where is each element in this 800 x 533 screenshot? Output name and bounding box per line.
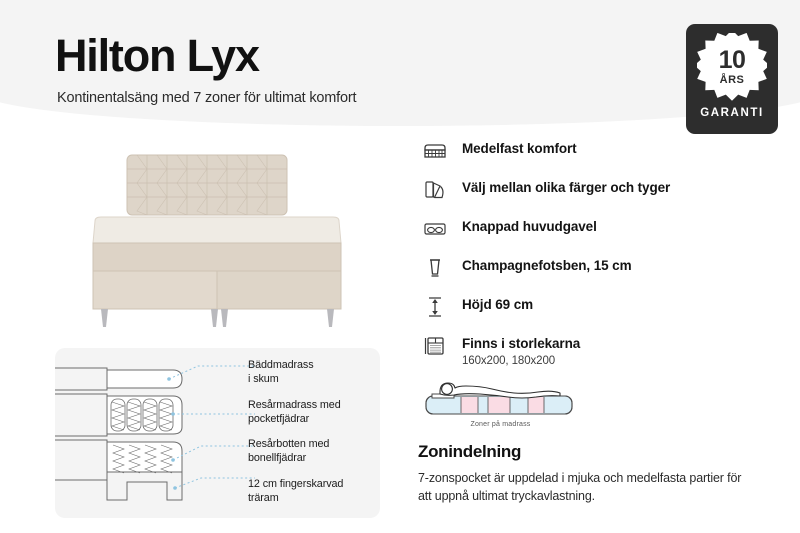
feature-text: Champagnefotsben, 15 cm	[462, 255, 632, 274]
feature-text: Knappad huvudgavel	[462, 216, 597, 235]
layer-cutaway-diagram	[55, 348, 255, 518]
page-title: Hilton Lyx	[55, 33, 259, 78]
height-arrow-icon	[420, 294, 450, 320]
layer-construction-panel: Bäddmadrass i skum Resårmadrass med pock…	[55, 348, 380, 518]
fabric-swatch-icon	[420, 177, 450, 203]
feature-row: Knappad huvudgavel	[420, 216, 760, 242]
layer-label: Bäddmadrass i skum	[248, 358, 380, 387]
badge-years-label: ÅRS	[697, 75, 767, 86]
badge-guarantee-label: GARANTI	[700, 107, 764, 119]
feature-label: Välj mellan olika färger och tyger	[462, 180, 670, 196]
feature-row: Höjd 69 cm	[420, 294, 760, 320]
bed-leg-icon	[420, 255, 450, 281]
badge-number: 10	[697, 48, 767, 73]
feature-sizes: 160x200, 180x200	[462, 355, 580, 367]
feature-row: Finns i storlekarna 160x200, 180x200	[420, 333, 760, 367]
feature-label: Höjd 69 cm	[462, 297, 533, 313]
feature-text: Höjd 69 cm	[462, 294, 533, 313]
feature-text: Välj mellan olika färger och tyger	[462, 177, 670, 196]
feature-row: Medelfast komfort	[420, 138, 760, 164]
feature-text: Medelfast komfort	[462, 138, 577, 157]
zone-section: Zoner på madrass Zonindelning 7-zonspock…	[418, 372, 758, 505]
bed-size-icon	[420, 333, 450, 359]
feature-row: Välj mellan olika färger och tyger	[420, 177, 760, 203]
mattress-icon	[420, 138, 450, 164]
feature-text: Finns i storlekarna 160x200, 180x200	[462, 333, 580, 367]
bed-product-photo	[75, 143, 365, 338]
layer-label: Resårbotten med bonellfjädrar	[248, 437, 380, 466]
zone-description: 7-zonspocket är uppdelad i mjuka och med…	[418, 469, 748, 505]
page-subtitle: Kontinentalsäng med 7 zoner för ultimat …	[57, 90, 356, 106]
feature-list: Medelfast komfort Välj mellan olika färg…	[420, 138, 760, 380]
layer-label: 12 cm fingerskarvad träram	[248, 477, 380, 506]
feature-label: Finns i storlekarna	[462, 336, 580, 352]
starburst-icon: 10 ÅRS	[697, 33, 767, 103]
tufted-headboard-icon	[420, 216, 450, 242]
layer-label: Resårmadrass med pocketfjädrar	[248, 398, 380, 427]
feature-label: Knappad huvudgavel	[462, 219, 597, 235]
feature-label: Champagnefotsben, 15 cm	[462, 258, 632, 274]
layer-label-list: Bäddmadrass i skum Resårmadrass med pock…	[248, 358, 380, 516]
feature-label: Medelfast komfort	[462, 141, 577, 157]
feature-row: Champagnefotsben, 15 cm	[420, 255, 760, 281]
warranty-badge: 10 ÅRS GARANTI	[686, 24, 778, 134]
zone-heading: Zonindelning	[418, 442, 758, 462]
zone-caption: Zoner på madrass	[418, 421, 583, 428]
